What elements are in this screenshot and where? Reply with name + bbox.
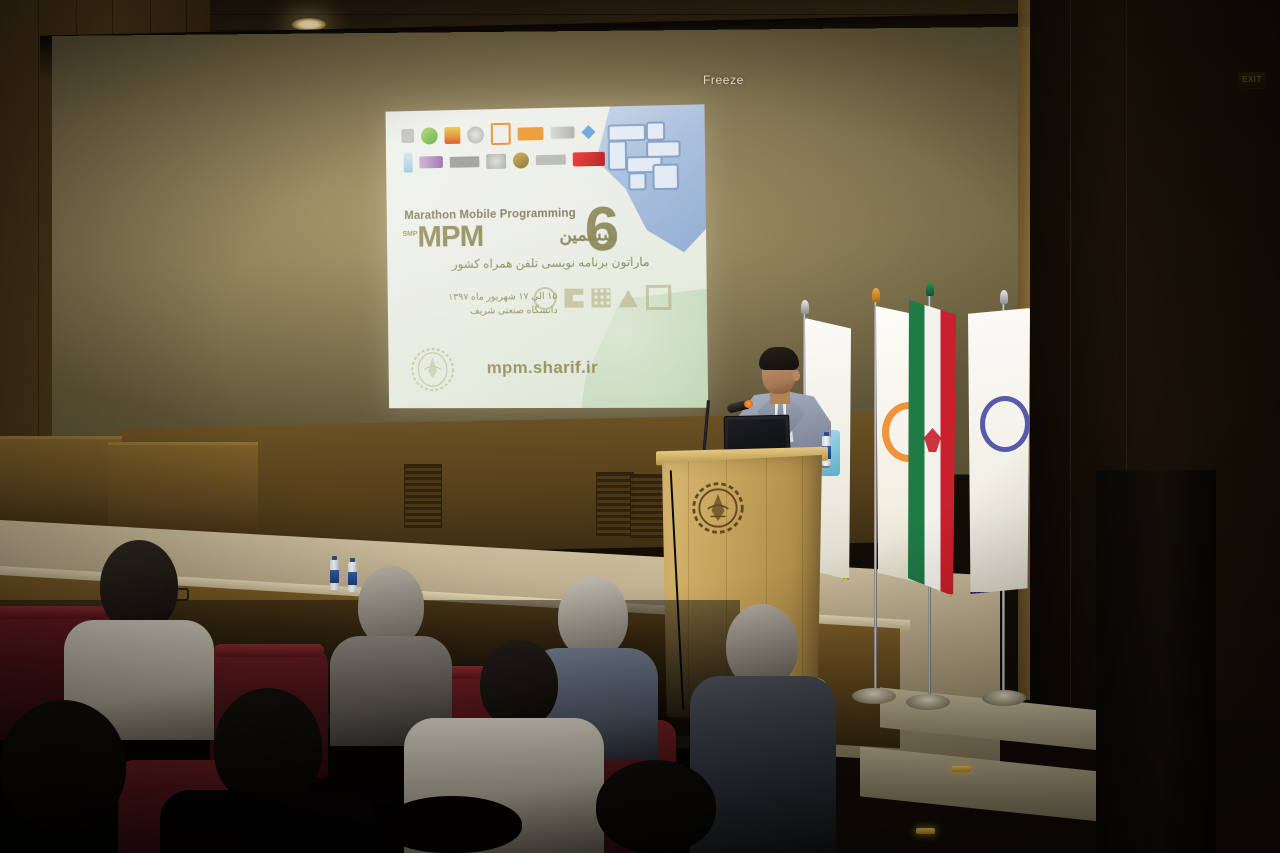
sharif-gear-seal-icon (410, 347, 456, 393)
sharif-gear-seal-icon (690, 480, 746, 536)
speaker-ear (793, 370, 800, 381)
flag-emblem (924, 428, 941, 452)
sponsor-logo (536, 155, 566, 166)
sponsor-logo (419, 156, 443, 168)
auditorium-scene: Freeze EXIT (0, 0, 1280, 853)
slide-mpm-superscript: SMP (403, 231, 418, 238)
flag-base (982, 690, 1026, 706)
wall-vent (404, 464, 442, 528)
sponsor-logo (518, 127, 544, 141)
square-logo-icon (646, 285, 672, 310)
microphone-windscreen (744, 400, 753, 408)
flag-emblem (980, 396, 1030, 452)
person-head (100, 540, 178, 632)
slide-mpm-logo: SMPMPM (402, 222, 483, 253)
sponsor-logo (486, 153, 506, 168)
person-head (382, 796, 522, 853)
right-dark-pillar (1096, 470, 1216, 853)
arrow-logo-icon (619, 288, 638, 307)
theater-seat-top (0, 606, 106, 619)
partner-logo-row (533, 285, 671, 311)
theater-seat-top (214, 644, 324, 657)
kufic-square-logo-icon (591, 288, 610, 307)
sponsor-row-2 (404, 149, 605, 173)
iran-national-flag (908, 300, 956, 596)
person-head (480, 640, 558, 728)
speaker-hair (759, 347, 799, 370)
flag-base (906, 694, 950, 710)
person-head (0, 700, 126, 830)
water-bottle (330, 556, 339, 590)
person-head (358, 566, 424, 646)
sharif-blue-flag (968, 308, 1030, 594)
person-head (558, 576, 628, 658)
water-bottle (348, 558, 357, 592)
sponsor-logo (444, 126, 460, 143)
sponsor-logo (404, 153, 413, 173)
person-head (214, 688, 322, 806)
sponsor-logo (421, 127, 438, 144)
projector-freeze-label: Freeze (703, 73, 744, 87)
glasses-icon (163, 588, 189, 601)
sponsor-logo (573, 152, 605, 167)
kufic-logo-icon (605, 119, 683, 191)
stage-bench (108, 442, 258, 541)
slide-url: mpm.sharif.ir (487, 358, 598, 378)
sponsor-logo (491, 123, 511, 145)
sponsor-logo (513, 152, 529, 168)
flag-base (852, 688, 896, 704)
slide-headline-fa: ششمین (559, 225, 617, 246)
flag-finial-icon (1000, 290, 1008, 304)
wall-vent (630, 474, 668, 538)
sponsor-logo (401, 129, 414, 143)
sponsor-logo (550, 126, 574, 139)
person-body (690, 676, 836, 853)
slide-subtitle-fa: ماراتون برنامه نویسی تلفن همراه کشور (401, 255, 650, 272)
sponsor-logo (467, 126, 484, 143)
flag-finial-icon (801, 300, 809, 314)
sponsor-logo (450, 156, 480, 168)
slide-mpm-text: MPM (417, 220, 483, 254)
projected-slide: Marathon Mobile Programming SMPMPM 6 ششم… (386, 104, 709, 408)
exit-sign: EXIT (1238, 72, 1266, 89)
wall-vent (596, 472, 634, 536)
step-light-icon (916, 828, 935, 834)
person-head (596, 760, 716, 853)
ce-logo-icon (564, 289, 583, 308)
person-body (160, 790, 376, 853)
sharif-seal-icon (533, 287, 556, 310)
sponsor-row-1 (401, 121, 595, 147)
flag-finial-icon (926, 282, 934, 296)
step-light-icon (952, 766, 971, 772)
flag-finial-icon (872, 288, 880, 302)
sponsor-logo (581, 125, 595, 139)
stage-bench (0, 436, 122, 531)
